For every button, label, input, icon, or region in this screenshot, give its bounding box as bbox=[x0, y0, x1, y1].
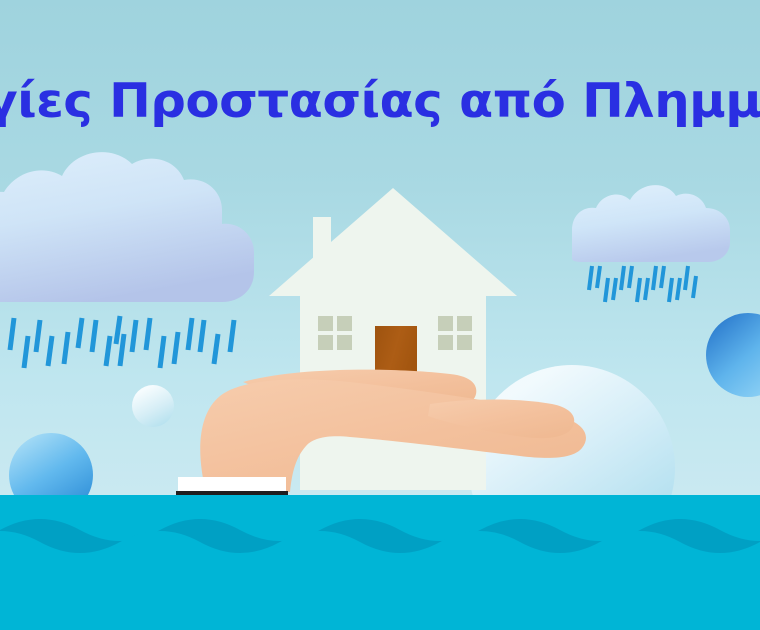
illustration-scene bbox=[0, 0, 760, 630]
shirt-cuff bbox=[178, 477, 286, 491]
flood-water bbox=[0, 495, 760, 630]
poster-canvas: Οδηγίες Προστασίας από Πλημμύρες bbox=[0, 0, 760, 630]
bubble-small-left bbox=[132, 385, 174, 427]
